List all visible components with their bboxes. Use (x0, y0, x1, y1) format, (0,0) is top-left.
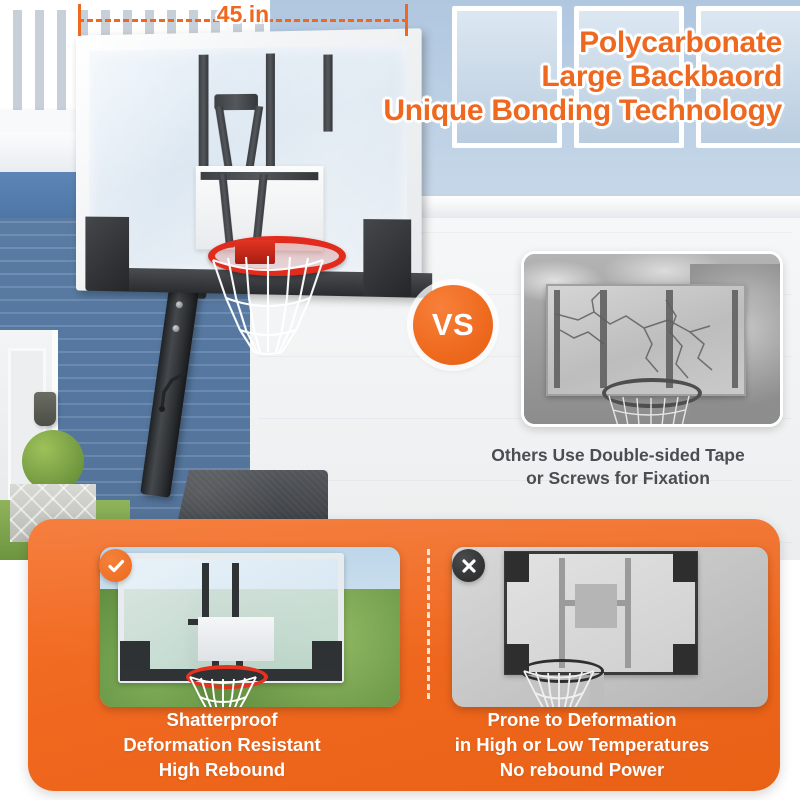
card-corner-pad (505, 552, 529, 582)
others-cracked-backboard-image (521, 251, 783, 427)
dimension-endcap-left (78, 4, 81, 36)
good-caption-line-2: Deformation Resistant (62, 733, 382, 758)
headline-line-3: Unique Bonding Technology (262, 94, 782, 128)
card-strut (559, 558, 565, 668)
backboard-corner-pad-left (85, 217, 129, 292)
bad-product-image (452, 547, 768, 707)
good-caption-line-1: Shatterproof (62, 708, 382, 733)
others-caption: Others Use Double-sided Tape or Screws f… (440, 444, 796, 491)
card-mount-box (575, 584, 617, 628)
card-corner-pad (673, 552, 697, 582)
headline-line-2: Large Backbaord (262, 60, 782, 94)
vertical-dashed-divider (427, 549, 430, 699)
check-circle-icon (99, 549, 132, 582)
headline-line-1: Polycarbonate (262, 26, 782, 60)
hoop-net (210, 256, 330, 356)
card-clear-backboard (118, 553, 344, 683)
bad-caption-line-3: No rebound Power (412, 758, 752, 783)
dimension-label: 45 in (207, 1, 279, 28)
inset-net (606, 394, 692, 427)
card-net (188, 675, 258, 707)
pole-bolt (172, 325, 180, 333)
cross-circle-icon (452, 549, 485, 582)
others-caption-line-2: or Screws for Fixation (440, 467, 796, 490)
vs-badge: VS (413, 285, 493, 365)
card-rim-plate (198, 617, 274, 661)
pole-bolt (175, 301, 183, 309)
height-adjust-crank (158, 370, 188, 414)
good-caption-line-3: High Rebound (62, 758, 382, 783)
card-strut (625, 558, 631, 668)
bad-caption-line-1: Prone to Deformation (412, 708, 752, 733)
bad-caption-line-2: in High or Low Temperatures (412, 733, 752, 758)
vs-label: VS (432, 307, 474, 343)
card-gray-net (522, 669, 596, 707)
bad-product-caption: Prone to Deformation in High or Low Temp… (412, 708, 752, 783)
good-product-image (100, 547, 400, 707)
marketing-image-canvas: 45 in Polycarbonate Large Backbaord Uniq… (0, 0, 800, 800)
card-gray-backboard (504, 551, 698, 675)
mount-strut (199, 55, 209, 166)
good-product-caption: Shatterproof Deformation Resistant High … (62, 708, 382, 783)
card-strut (202, 563, 209, 619)
wall-lamp-icon (34, 392, 56, 426)
headline-block: Polycarbonate Large Backbaord Unique Bon… (262, 26, 782, 128)
card-corner-pad (673, 644, 697, 674)
card-strut (232, 563, 239, 619)
backboard-corner-pad-right (363, 219, 411, 297)
others-caption-line-1: Others Use Double-sided Tape (440, 444, 796, 467)
